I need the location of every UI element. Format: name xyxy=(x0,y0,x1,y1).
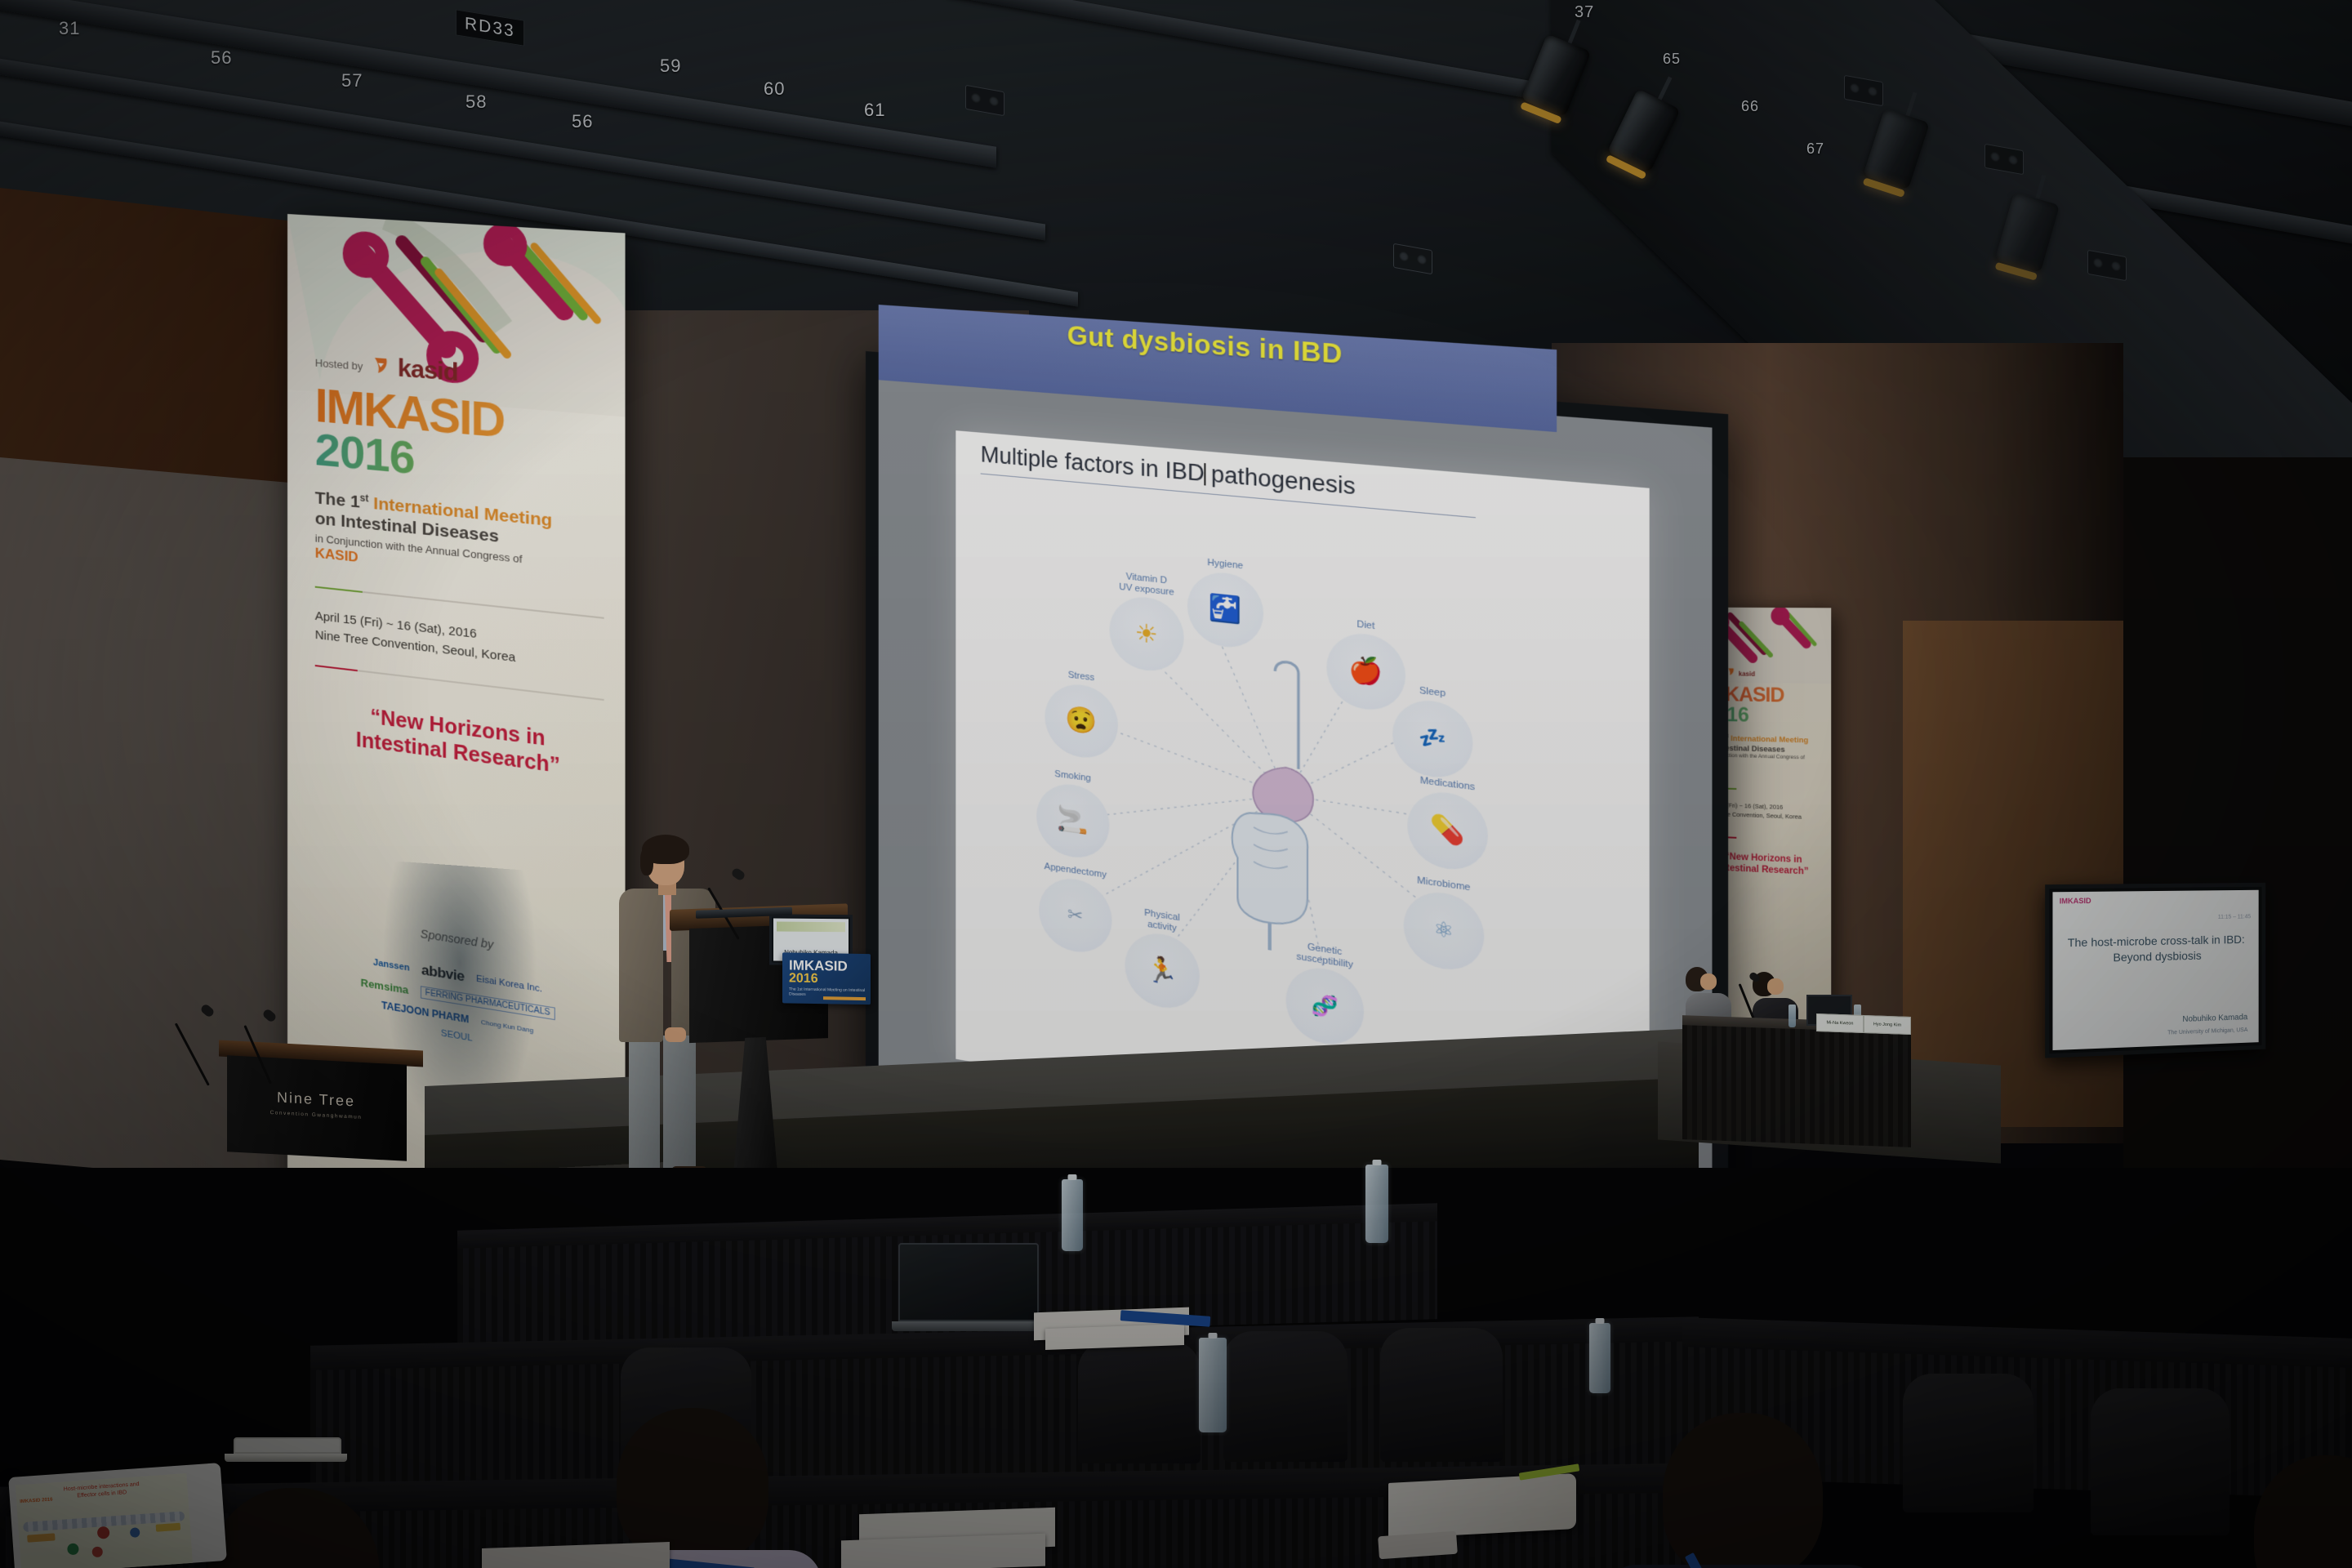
faucet-icon: 🚰 xyxy=(1187,569,1263,651)
sponsor-logo-seoul: SEOUL xyxy=(441,1028,473,1044)
dna-icon: 🧬 xyxy=(1285,963,1364,1049)
pill-icon: 💊 xyxy=(1407,787,1488,874)
tablet-cell-dot xyxy=(130,1527,140,1538)
presenter-sideburn xyxy=(640,848,653,875)
banner2-host-org: kasid xyxy=(1739,670,1755,677)
truss-number: 66 xyxy=(1741,98,1759,115)
kasid-logo-icon xyxy=(369,354,390,381)
tablet-screen: IMKASID 2016 Host-microbe interactions a… xyxy=(16,1473,193,1568)
truss-number: 58 xyxy=(465,91,487,113)
program-book[interactable] xyxy=(1388,1473,1576,1539)
truss-number: 57 xyxy=(341,70,363,91)
side-monitor-eyebrow: 11:15 – 11:45 xyxy=(2218,914,2251,920)
side-monitor-title: The host-microbe cross-talk in IBD: Beyo… xyxy=(2061,932,2251,967)
attendee-tablet[interactable]: IMKASID 2016 Host-microbe interactions a… xyxy=(8,1463,227,1568)
audience-chair[interactable] xyxy=(1903,1374,2033,1512)
cigarette-icon: 🚬 xyxy=(1036,780,1109,862)
text-caret xyxy=(1204,463,1205,485)
factor-node: Sleep 💤 xyxy=(1388,682,1477,782)
head-table-microphone xyxy=(1749,973,1760,1023)
factor-node: Appendectomy ✂ xyxy=(1029,859,1122,958)
presenter-leg-left xyxy=(629,1036,660,1181)
conference-hall-photo: RD33 RD32 RD34 31 56 57 58 59 60 61 56 3… xyxy=(0,0,2352,1568)
factor-node: Genetic susceptibility 🧬 xyxy=(1275,938,1374,1052)
truss-tag-rd33: RD33 xyxy=(456,9,524,46)
truss-number: 59 xyxy=(660,56,681,77)
truss-number: 67 xyxy=(1806,140,1824,158)
head-table: Mi-Na Kweon Hyo Jong Kim xyxy=(1682,964,1911,1143)
pathogenesis-diagram: Vitamin D UV exposure ☀ Hygiene 🚰 Diet 🍎… xyxy=(955,530,1649,1105)
sponsor-logo-abbvie: abbvie xyxy=(421,962,464,986)
factor-node: Stress 😧 xyxy=(1040,667,1122,763)
truss-number: 61 xyxy=(864,100,885,121)
tablet-cell-dot xyxy=(91,1546,103,1557)
head-table-drape xyxy=(1682,1025,1911,1147)
truss-number: 56 xyxy=(572,111,593,132)
water-bottle[interactable] xyxy=(1365,1165,1388,1243)
factor-node: Hygiene 🚰 xyxy=(1183,555,1268,651)
sponsor-logo-janssen: Janssen xyxy=(373,958,410,973)
water-bottle[interactable] xyxy=(1062,1179,1083,1251)
audience-head xyxy=(617,1408,768,1563)
factor-node: Medications 💊 xyxy=(1403,773,1493,875)
attendee-laptop[interactable] xyxy=(898,1243,1042,1331)
sponsor-logo-eisai: Eisai Korea Inc. xyxy=(476,973,542,994)
microphone xyxy=(201,1006,214,1085)
attendee-laptop[interactable] xyxy=(234,1437,347,1462)
name-placard: Hyo Jong Kim xyxy=(1864,1015,1911,1035)
audience-member xyxy=(2205,1455,2352,1568)
banner-host-org: kasid xyxy=(398,354,458,387)
water-bottle xyxy=(1788,1004,1796,1027)
tablet-cell-dot xyxy=(97,1526,110,1539)
ceiling-light-fixture xyxy=(1393,243,1432,274)
presenter-hand-left xyxy=(665,1027,686,1042)
truss-number: 60 xyxy=(764,78,785,100)
podium-sign-title: IMKASID xyxy=(782,952,871,973)
bacteria-icon: ⚛ xyxy=(1404,887,1485,974)
sponsor-logo-remsima: Remsima xyxy=(361,976,409,996)
microphone xyxy=(263,1011,276,1084)
side-monitor-screen: IMKASID 11:15 – 11:45 The host-microbe c… xyxy=(2052,890,2258,1050)
slide-heading: Multiple factors in IBD pathogenesis xyxy=(981,441,1476,518)
runner-icon: 🏃 xyxy=(1125,929,1200,1013)
audience-chair[interactable] xyxy=(1380,1328,1503,1462)
audience-chair[interactable] xyxy=(1078,1341,1200,1463)
scalpel-icon: ✂ xyxy=(1039,874,1111,957)
audience-chair[interactable] xyxy=(1223,1331,1347,1462)
audience-torso xyxy=(1604,1565,1882,1568)
ceiling-light-fixture xyxy=(965,85,1004,116)
truss-number: 31 xyxy=(59,18,80,39)
podium-sign-accent xyxy=(823,996,866,1000)
side-monitor: IMKASID 11:15 – 11:45 The host-microbe c… xyxy=(2045,883,2265,1058)
truss-number: 65 xyxy=(1663,51,1681,68)
banner-hosted-by-label: Hosted by xyxy=(315,356,363,372)
podium-microphone xyxy=(732,870,745,940)
confidence-monitor-banner xyxy=(777,922,845,933)
truss-number: 56 xyxy=(211,47,232,69)
tablet-legend-swatch xyxy=(27,1533,56,1542)
tablet-legend-swatch xyxy=(156,1523,181,1532)
podium-sign-year: 2016 xyxy=(782,972,871,987)
factor-node: Vitamin D UV exposure ☀ xyxy=(1105,569,1188,675)
sun-icon: ☀ xyxy=(1109,594,1183,675)
audience-head xyxy=(2254,1455,2352,1568)
water-bottle[interactable] xyxy=(1199,1338,1227,1432)
sleep-icon: 💤 xyxy=(1392,697,1472,782)
face-icon: 😧 xyxy=(1045,680,1118,761)
factor-node: Physical activity 🏃 xyxy=(1120,904,1204,1014)
sponsor-logo-chongkundang: Chong Kun Dang xyxy=(481,1018,533,1034)
podium-sign: IMKASID 2016 The 1st International Meeti… xyxy=(782,952,871,1004)
tablet-cell-dot xyxy=(67,1543,79,1555)
presenter-jacket-left xyxy=(619,889,663,1042)
side-monitor-author: Nobuhiko Kamada xyxy=(2182,1013,2247,1024)
side-monitor-affiliation: The University of Michigan, USA xyxy=(2167,1027,2247,1036)
water-bottle[interactable] xyxy=(1589,1323,1610,1393)
podium: Nobuhiko Kamada IMKASID 2016 The 1st Int… xyxy=(684,904,840,1204)
audience-head xyxy=(1663,1413,1823,1568)
side-monitor-logo: IMKASID xyxy=(2060,897,2091,906)
name-placard: Mi-Na Kweon xyxy=(1816,1013,1864,1033)
audience-member xyxy=(1604,1413,1882,1568)
wall-far-dark xyxy=(2123,457,2352,1192)
factor-node: Smoking 🚬 xyxy=(1032,766,1114,862)
audience-head xyxy=(208,1488,380,1568)
factor-node: Microbiome ⚛ xyxy=(1397,872,1491,975)
audience-area xyxy=(0,1168,2352,1568)
